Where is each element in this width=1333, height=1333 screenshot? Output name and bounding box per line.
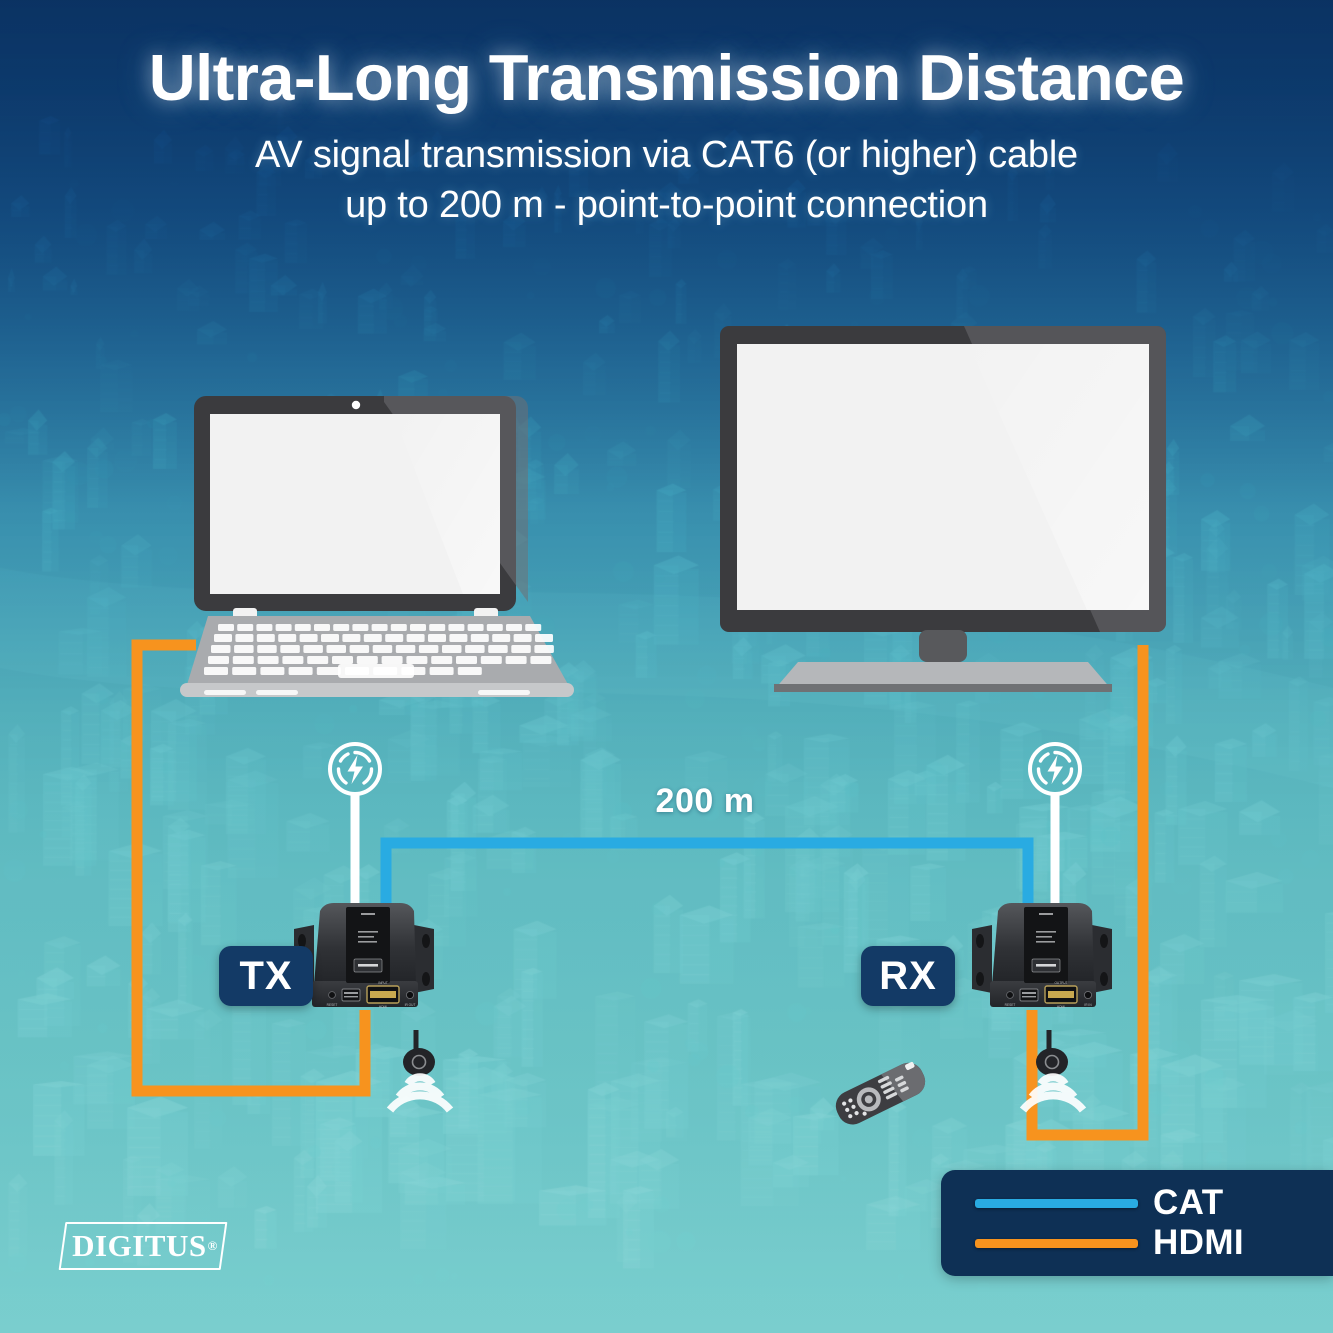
cat-cable <box>386 843 1028 905</box>
legend-swatch-hdmi <box>975 1239 1138 1248</box>
reset-button <box>1007 992 1014 999</box>
legend-row <box>975 1183 1141 1223</box>
svg-text:IR IN: IR IN <box>1084 1003 1092 1007</box>
lightning-bolt-icon <box>348 755 364 784</box>
legend-row: HDMI <box>1153 1223 1333 1263</box>
rx-extender-device: RESET OUTPUT HDMI IR IN <box>966 897 1118 1015</box>
svg-text:HDMI: HDMI <box>379 1005 387 1009</box>
ir-jack <box>406 991 413 998</box>
svg-text:OUTPUT: OUTPUT <box>1054 981 1067 985</box>
lightning-bolt-icon <box>1048 755 1064 784</box>
subtitle-line-2: up to 200 m - point-to-point connection <box>0 180 1333 230</box>
laptop-touchpad <box>338 664 414 678</box>
logo-wordmark: DIGITUS® <box>62 1222 224 1270</box>
distance-label: 200 m <box>580 782 830 821</box>
ir-emitter-icon <box>385 1030 461 1134</box>
page-subtitle: AV signal transmission via CAT6 (or high… <box>0 130 1333 230</box>
tv-monitor <box>712 318 1184 700</box>
digitus-logo: DIGITUS® <box>62 1222 224 1270</box>
usb-port <box>1020 989 1038 1001</box>
header: Ultra-Long Transmission Distance AV sign… <box>0 0 1333 231</box>
legend-label-hdmi: HDMI <box>1153 1223 1244 1263</box>
registered-trademark-icon: ® <box>208 1238 218 1254</box>
svg-text:RESET: RESET <box>1005 1003 1016 1007</box>
rx-label-badge: RX <box>861 946 955 1006</box>
ir-signal-waves <box>1023 1077 1083 1110</box>
logo-text: DIGITUS <box>72 1228 206 1264</box>
ir-receiver-icon <box>1018 1030 1094 1134</box>
ir-head <box>403 1048 435 1076</box>
power-adapter-icon <box>1026 740 1084 798</box>
legend: CAT HDMI <box>941 1170 1333 1276</box>
hdmi-cable-tx <box>137 645 365 1091</box>
laptop <box>178 392 596 704</box>
legend-row <box>975 1223 1141 1263</box>
power-adapter-icon <box>326 740 384 798</box>
laptop-webcam <box>352 401 360 409</box>
svg-text:HDMI: HDMI <box>1057 1005 1065 1009</box>
infographic-canvas: Ultra-Long Transmission Distance AV sign… <box>0 0 1333 1333</box>
page-title: Ultra-Long Transmission Distance <box>0 44 1333 112</box>
legend-row: CAT <box>1153 1183 1333 1223</box>
ir-jack <box>1084 991 1091 998</box>
ir-remote-control <box>820 1045 940 1145</box>
subtitle-line-1: AV signal transmission via CAT6 (or high… <box>0 130 1333 180</box>
ir-head <box>1036 1048 1068 1076</box>
legend-swatch-column <box>941 1183 1141 1263</box>
tx-label-badge: TX <box>219 946 313 1006</box>
svg-text:INPUT: INPUT <box>378 981 388 985</box>
reset-button <box>329 992 336 999</box>
svg-text:RESET: RESET <box>327 1003 338 1007</box>
legend-label-cat: CAT <box>1153 1183 1224 1223</box>
legend-label-column: CAT HDMI <box>1141 1183 1333 1263</box>
tv-stand-neck <box>919 630 967 662</box>
legend-swatch-cat <box>975 1199 1138 1208</box>
usb-port <box>342 989 360 1001</box>
ir-signal-waves <box>390 1077 450 1110</box>
svg-text:IR OUT: IR OUT <box>405 1003 416 1007</box>
